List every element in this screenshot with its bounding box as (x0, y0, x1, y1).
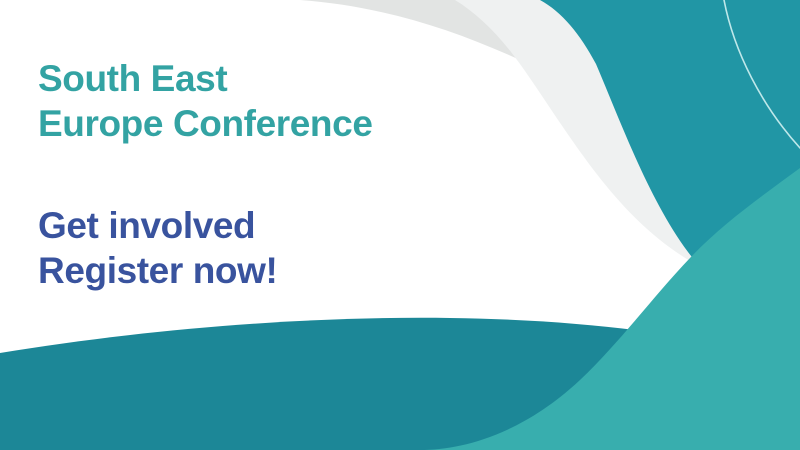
call-to-action: Get involved Register now! (38, 203, 277, 293)
cta-line-2: Register now! (38, 248, 277, 293)
headline-line-1: South East (38, 56, 373, 101)
text-layer: South East Europe Conference Get involve… (0, 0, 800, 450)
headline: South East Europe Conference (38, 56, 373, 146)
slide-canvas: South East Europe Conference Get involve… (0, 0, 800, 450)
headline-line-2: Europe Conference (38, 101, 373, 146)
cta-line-1: Get involved (38, 203, 277, 248)
